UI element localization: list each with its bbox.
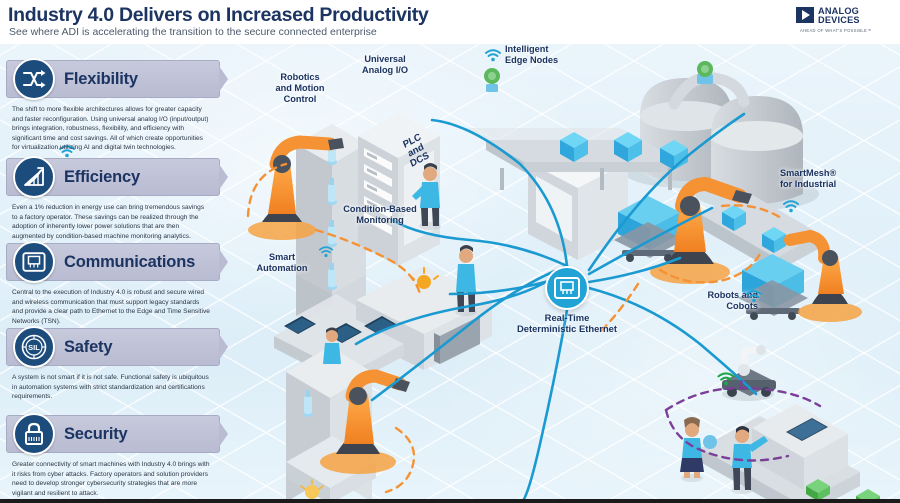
label-smartmesh-for-industrial: SmartMesh® for Industrial bbox=[780, 168, 884, 190]
panel-title-flexibility: Flexibility bbox=[64, 70, 138, 89]
infographic-page: Industry 4.0 Delivers on Increased Produ… bbox=[0, 0, 900, 503]
panel-header-efficiency[interactable]: Efficiency bbox=[6, 158, 220, 196]
wifi-icon-cobots bbox=[745, 289, 763, 303]
ethernet-port-icon bbox=[13, 241, 55, 283]
panel-body-efficiency: Even a 1% reduction in energy use can br… bbox=[6, 203, 214, 241]
panel-security[interactable]: Security Greater connectivity of smart m… bbox=[6, 415, 220, 498]
adi-triangle-mark-icon bbox=[796, 7, 814, 23]
panel-header-communications[interactable]: Communications bbox=[6, 243, 220, 281]
panel-body-safety: A system is not smart if it is not safe.… bbox=[6, 373, 214, 402]
page-header: Industry 4.0 Delivers on Increased Produ… bbox=[0, 0, 900, 44]
panel-title-communications: Communications bbox=[64, 253, 195, 272]
label-robotics-and-motion-control: Robotics and Motion Control bbox=[256, 72, 344, 105]
panel-efficiency[interactable]: Efficiency Even a 1% reduction in energy… bbox=[6, 158, 220, 241]
wifi-icon-condition-monitoring bbox=[318, 245, 334, 258]
label-condition-based-monitoring: Condition-Based Monitoring bbox=[320, 204, 440, 226]
wifi-icon-inspection bbox=[716, 371, 736, 386]
wifi-icon-smartmesh bbox=[782, 199, 800, 213]
label-intelligent-edge-nodes: Intelligent Edge Nodes bbox=[505, 44, 615, 66]
ethernet-port-icon bbox=[554, 277, 580, 299]
panel-safety[interactable]: SIL Safety A system is not smart if it i… bbox=[6, 328, 220, 402]
logo-word-devices: DEVICES bbox=[818, 16, 860, 25]
panel-header-flexibility[interactable]: Flexibility bbox=[6, 60, 220, 98]
panel-title-efficiency: Efficiency bbox=[64, 168, 140, 187]
panel-communications[interactable]: Communications Central to the execution … bbox=[6, 243, 220, 326]
logo-tagline: AHEAD OF WHAT'S POSSIBLE™ bbox=[800, 28, 872, 33]
panel-body-security: Greater connectivity of smart machines w… bbox=[6, 460, 214, 498]
page-subtitle: See where ADI is accelerating the transi… bbox=[9, 26, 377, 38]
edge-node-sensor-icon bbox=[480, 64, 504, 92]
page-title: Industry 4.0 Delivers on Increased Produ… bbox=[8, 4, 428, 27]
hub-label: Real-Time Deterministic Ethernet bbox=[516, 312, 618, 334]
label-robots-and-cobots: Robots and Cobots bbox=[662, 290, 758, 312]
real-time-ethernet-hub-icon bbox=[545, 266, 589, 310]
bottom-border-bar bbox=[0, 499, 900, 503]
label-universal-analog-io: Universal Analog I/O bbox=[330, 54, 440, 76]
svg-text:SIL: SIL bbox=[28, 343, 40, 352]
panel-flexibility[interactable]: Flexibility The shift to more flexible a… bbox=[6, 60, 220, 153]
panel-body-communications: Central to the execution of Industry 4.0… bbox=[6, 288, 214, 326]
isometric-factory-scene: Real-Time Deterministic Ethernet bbox=[0, 44, 900, 499]
shuffle-arrows-icon bbox=[13, 58, 55, 100]
padlock-icon bbox=[13, 413, 55, 455]
rising-chart-icon bbox=[13, 156, 55, 198]
sil-badge-icon: SIL bbox=[13, 326, 55, 368]
panel-header-safety[interactable]: SIL Safety bbox=[6, 328, 220, 366]
analog-devices-logo: ANALOG DEVICES AHEAD OF WHAT'S POSSIBLE™ bbox=[796, 6, 892, 36]
wifi-icon-edge-node bbox=[484, 48, 502, 62]
panel-body-flexibility: The shift to more flexible architectures… bbox=[6, 105, 214, 153]
panel-title-safety: Safety bbox=[64, 338, 112, 357]
panel-header-security[interactable]: Security bbox=[6, 415, 220, 453]
panel-title-security: Security bbox=[64, 425, 128, 444]
label-smart-automation: Smart Automation bbox=[240, 252, 324, 274]
